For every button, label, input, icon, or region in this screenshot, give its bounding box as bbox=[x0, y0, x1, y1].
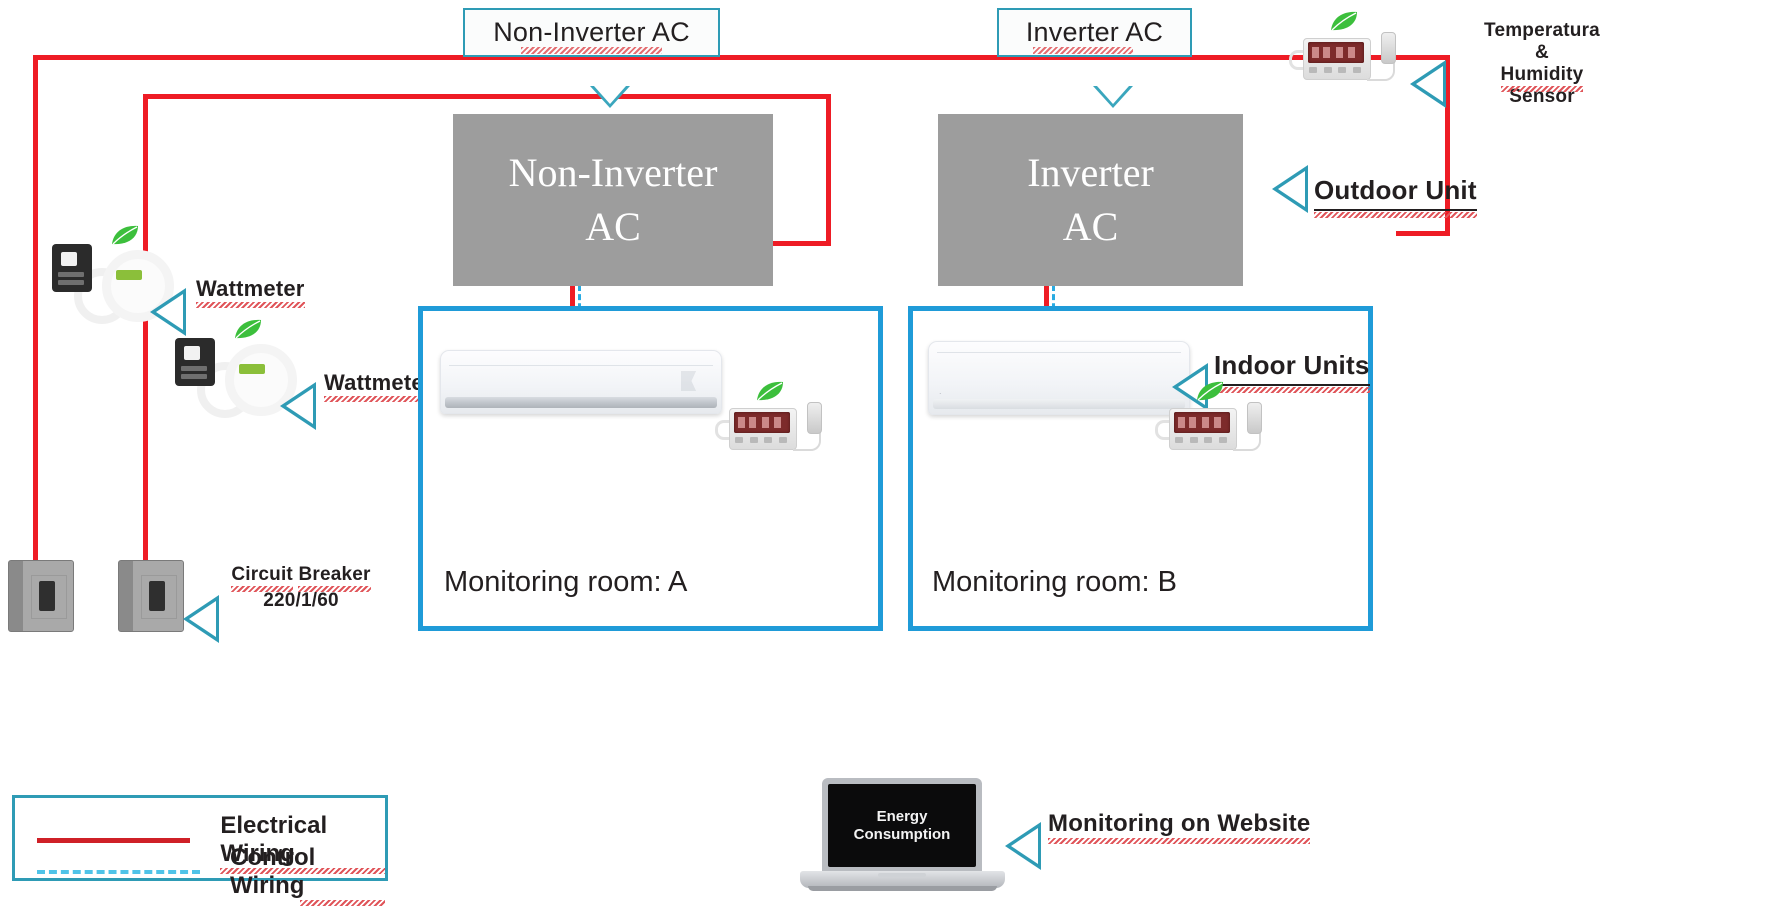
wire-electrical-left-riser-1 bbox=[33, 55, 38, 575]
label-line-3: 220/1/60 bbox=[226, 590, 376, 612]
wire-electrical-drop-non-inverter bbox=[826, 94, 831, 246]
label-line-3: Humidity bbox=[1501, 64, 1584, 85]
label-line-1: Circuit bbox=[231, 564, 293, 585]
spellcheck-underline bbox=[1048, 838, 1310, 844]
legend-label-control-wiring: Control Wiring bbox=[230, 844, 385, 900]
label-circuit-breaker: Circuit Breaker 220/1/60 bbox=[226, 560, 376, 612]
circuit-breaker-icon-1[interactable] bbox=[8, 560, 74, 632]
wire-electrical-top-bus bbox=[33, 55, 1450, 60]
triangle-down-marker-non-inverter bbox=[590, 86, 630, 108]
outdoor-unit-inverter[interactable]: Inverter AC bbox=[938, 114, 1243, 286]
outdoor-unit-non-inverter-line2: AC bbox=[585, 200, 641, 254]
spellcheck-underline bbox=[1214, 387, 1370, 393]
callout-arrow-left-outdoor-unit bbox=[1272, 165, 1308, 213]
legend-item-control-wiring: Control Wiring bbox=[37, 844, 385, 900]
label-line-2: & bbox=[1452, 42, 1632, 64]
callout-box-non-inverter-ac[interactable]: Non-Inverter AC bbox=[463, 8, 720, 57]
spellcheck-underline bbox=[1501, 86, 1584, 92]
leaf-icon bbox=[1329, 10, 1359, 32]
laptop-lid: Energy Consumption bbox=[822, 778, 982, 873]
triangle-down-marker-inverter bbox=[1093, 86, 1133, 108]
spellcheck-underline bbox=[196, 302, 305, 308]
temperature-humidity-sensor-icon[interactable] bbox=[1289, 28, 1404, 88]
circuit-breaker-icon-2[interactable] bbox=[118, 560, 184, 632]
label-wattmeter-2: Wattmeter bbox=[324, 370, 433, 396]
callout-box-inverter-ac[interactable]: Inverter AC bbox=[997, 8, 1192, 57]
spellcheck-underline bbox=[298, 586, 370, 592]
ac-brand-logo bbox=[681, 371, 709, 391]
callout-arrow-left-wattmeter-1 bbox=[150, 288, 186, 336]
leaf-icon bbox=[1195, 380, 1225, 402]
sensor-probe-cable bbox=[1233, 431, 1261, 451]
laptop-screen-text: Energy Consumption bbox=[854, 808, 951, 843]
wattmeter-module bbox=[52, 244, 92, 292]
label-indoor-units: Indoor Units bbox=[1214, 350, 1370, 381]
ac-louver bbox=[445, 397, 717, 408]
label-underline bbox=[1314, 209, 1477, 211]
wattmeter-display bbox=[239, 364, 265, 374]
sensor-probe-cable bbox=[793, 431, 821, 451]
wattmeter-display bbox=[116, 270, 142, 280]
spellcheck-underline bbox=[1314, 212, 1477, 218]
ac-louver bbox=[933, 399, 1185, 409]
outdoor-unit-non-inverter-line1: Non-Inverter bbox=[509, 146, 718, 200]
wattmeter-module bbox=[175, 338, 215, 386]
spellcheck-underline bbox=[1033, 47, 1132, 54]
screen-line-2: Consumption bbox=[854, 826, 951, 843]
ac-seam bbox=[937, 352, 1181, 353]
outdoor-unit-inverter-line1: Inverter bbox=[1027, 146, 1154, 200]
callout-box-inverter-ac-label: Inverter AC bbox=[1026, 17, 1163, 48]
outdoor-unit-inverter-line2: AC bbox=[1063, 200, 1119, 254]
legend-swatch-dashed-line bbox=[37, 870, 200, 874]
split-ac-indoor-unit-b[interactable]: . bbox=[928, 341, 1190, 415]
legend-swatch-solid-line bbox=[37, 838, 190, 843]
spellcheck-underline bbox=[231, 586, 293, 592]
legend-box: Electrical Wiring Control Wiring bbox=[12, 795, 388, 881]
spellcheck-underline bbox=[324, 396, 433, 402]
sensor-buttons[interactable] bbox=[1309, 67, 1361, 73]
wire-electrical-into-inverter bbox=[1396, 231, 1450, 236]
wire-electrical-into-non-inverter bbox=[770, 241, 831, 246]
callout-arrow-left-wattmeter-2 bbox=[280, 382, 316, 430]
sensor-probe bbox=[807, 402, 822, 434]
wattmeter-icon-2[interactable] bbox=[175, 332, 295, 412]
breaker-switch[interactable] bbox=[149, 581, 165, 611]
laptop-touchpad[interactable] bbox=[878, 873, 926, 877]
sensor-lcd-display bbox=[734, 412, 790, 433]
sensor-lcd-display bbox=[1308, 42, 1364, 63]
monitoring-room-b-label: Monitoring room: B bbox=[932, 566, 1177, 599]
sensor-probe bbox=[1247, 402, 1262, 434]
breaker-switch[interactable] bbox=[39, 581, 55, 611]
wire-electrical-left-riser-2 bbox=[143, 94, 148, 575]
screen-line-1: Energy bbox=[877, 808, 928, 825]
ac-brand-text: . bbox=[939, 386, 942, 396]
label-line-2: Breaker bbox=[298, 564, 370, 585]
callout-arrow-left-temp-sensor bbox=[1410, 60, 1446, 108]
callout-box-non-inverter-ac-label: Non-Inverter AC bbox=[493, 17, 690, 48]
sensor-probe bbox=[1381, 32, 1396, 64]
sensor-probe-cable bbox=[1367, 61, 1395, 81]
label-monitoring-on-website: Monitoring on Website bbox=[1048, 810, 1310, 838]
spellcheck-underline bbox=[300, 900, 385, 906]
wire-electrical-second-bus bbox=[143, 94, 831, 99]
leaf-icon bbox=[755, 380, 785, 402]
label-wattmeter-1: Wattmeter bbox=[196, 276, 305, 302]
temperature-humidity-sensor-icon-room-b[interactable] bbox=[1155, 398, 1270, 458]
spellcheck-underline bbox=[521, 47, 663, 54]
leaf-icon bbox=[233, 318, 263, 340]
label-outdoor-unit: Outdoor Unit bbox=[1314, 175, 1477, 206]
split-ac-indoor-unit-a[interactable] bbox=[440, 350, 722, 414]
sensor-buttons[interactable] bbox=[735, 437, 787, 443]
label-underline bbox=[1214, 384, 1370, 386]
label-line-1: Temperatura bbox=[1452, 20, 1632, 42]
leaf-icon bbox=[110, 224, 140, 246]
monitoring-room-a-label: Monitoring room: A bbox=[444, 566, 687, 599]
diagram-canvas: Non-Inverter AC Inverter AC Non-Inverter… bbox=[0, 0, 1772, 895]
ac-seam bbox=[449, 365, 712, 366]
outdoor-unit-non-inverter[interactable]: Non-Inverter AC bbox=[453, 114, 773, 286]
temperature-humidity-sensor-icon-room-a[interactable] bbox=[715, 398, 830, 458]
callout-arrow-left-monitoring-website bbox=[1005, 822, 1041, 870]
sensor-buttons[interactable] bbox=[1175, 437, 1227, 443]
label-temperature-humidity-sensor: Temperatura & Humidity Sensor bbox=[1452, 20, 1632, 108]
laptop-icon[interactable]: Energy Consumption bbox=[800, 778, 1005, 893]
laptop-foot bbox=[808, 886, 997, 891]
sensor-lcd-display bbox=[1174, 412, 1230, 433]
laptop-screen[interactable]: Energy Consumption bbox=[828, 784, 976, 867]
callout-arrow-left-circuit-breaker bbox=[183, 595, 219, 643]
